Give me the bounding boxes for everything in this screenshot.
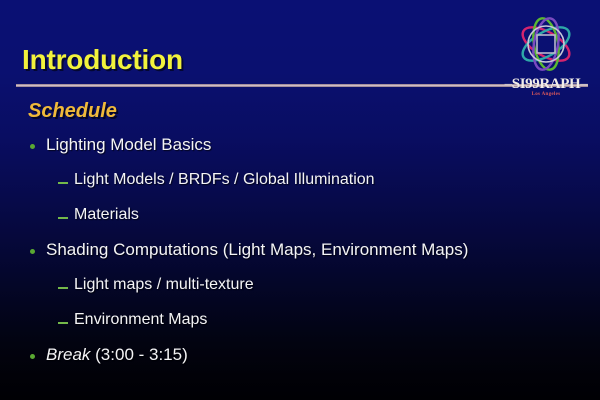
- bullet-text-body: (3:00 - 3:15): [90, 345, 187, 364]
- bullet-text: Break (3:00 - 3:15): [46, 344, 188, 366]
- bullet-dash-icon: [58, 182, 68, 184]
- sub-bullet-item: Light Models / BRDFs / Global Illuminati…: [0, 169, 600, 204]
- bullet-dash-icon: [58, 322, 68, 324]
- bullet-text-body: Materials: [74, 206, 139, 223]
- bullet-text-body: Lighting Model Basics: [46, 135, 211, 154]
- sub-bullet-item: Environment Maps: [0, 309, 600, 344]
- bullet-text-body: Environment Maps: [74, 311, 207, 328]
- presentation-slide: Introduction Schedule –SI99RAPH– Los Ang…: [0, 0, 600, 400]
- bullet-item: Shading Computations (Light Maps, Enviro…: [0, 239, 600, 274]
- bullet-dash-icon: [58, 217, 68, 219]
- siggraph-logo: –SI99RAPH– Los Angeles: [500, 10, 592, 102]
- page-title: Introduction: [22, 44, 183, 76]
- bullet-dot-icon: [30, 354, 35, 359]
- logo-wordmark-text: SI99RAPH: [512, 76, 580, 92]
- bullet-dash-icon: [58, 287, 68, 289]
- logo-city-label: Los Angeles: [500, 92, 592, 97]
- bullet-text-body: Light maps / multi-texture: [74, 276, 254, 293]
- slide-subtitle: Schedule: [28, 100, 117, 123]
- logo-wordmark: –SI99RAPH–: [500, 76, 592, 93]
- logo-dash-right: –: [580, 76, 587, 92]
- bullet-text-emphasis: Break: [46, 345, 90, 364]
- bullet-text: Light maps / multi-texture: [74, 274, 254, 296]
- siggraph-rings-icon: [500, 10, 592, 82]
- logo-dash-left: –: [505, 76, 512, 92]
- schedule-list: Lighting Model BasicsLight Models / BRDF…: [0, 134, 600, 379]
- bullet-dot-icon: [30, 144, 35, 149]
- bullet-item: Break (3:00 - 3:15): [0, 344, 600, 379]
- bullet-text-body: Light Models / BRDFs / Global Illuminati…: [74, 171, 375, 188]
- sub-bullet-item: Light maps / multi-texture: [0, 274, 600, 309]
- bullet-dot-icon: [30, 249, 35, 254]
- bullet-text: Light Models / BRDFs / Global Illuminati…: [74, 169, 375, 191]
- bullet-text-body: Shading Computations (Light Maps, Enviro…: [46, 240, 468, 259]
- bullet-text: Environment Maps: [74, 309, 207, 331]
- bullet-text: Materials: [74, 204, 139, 226]
- bullet-item: Lighting Model Basics: [0, 134, 600, 169]
- bullet-text: Shading Computations (Light Maps, Enviro…: [46, 239, 468, 261]
- bullet-text: Lighting Model Basics: [46, 134, 211, 156]
- sub-bullet-item: Materials: [0, 204, 600, 239]
